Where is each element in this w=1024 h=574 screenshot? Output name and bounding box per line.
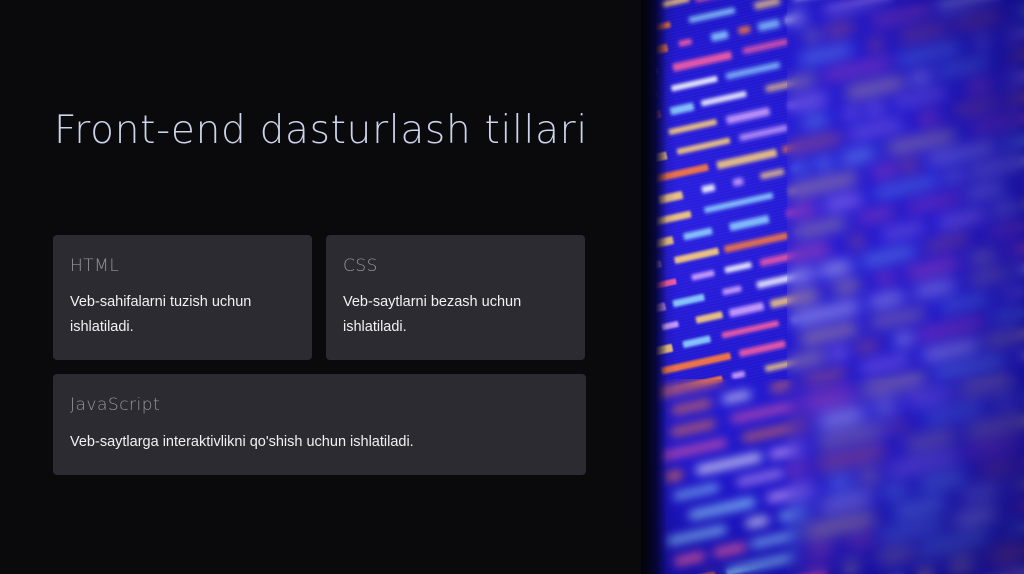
card-heading: JavaScript: [70, 395, 569, 415]
card-heading: HTML: [70, 256, 295, 276]
monitor-bezel-edge: [641, 0, 667, 574]
cards-container: HTML Veb-sahifalarni tuzish uchun ishlat…: [53, 235, 586, 475]
card-javascript[interactable]: JavaScript Veb-saytlarga interaktivlikni…: [53, 374, 586, 474]
card-css[interactable]: CSS Veb-saytlarni bezash uchun ishlatila…: [326, 235, 585, 360]
card-body: Veb-sahifalarni tuzish uchun ishlatiladi…: [70, 290, 295, 340]
code-text-lines: [641, 0, 1024, 574]
card-body: Veb-saytlarga interaktivlikni qo'shish u…: [70, 430, 569, 455]
page-title: Front-end dasturlash tillari: [54, 108, 588, 155]
monitor-screen: [641, 0, 1024, 574]
cards-top-row: HTML Veb-sahifalarni tuzish uchun ishlat…: [53, 235, 586, 360]
content-panel: Front-end dasturlash tillari HTML Veb-sa…: [0, 0, 641, 574]
code-on-monitor-photo: [641, 0, 1024, 574]
card-html[interactable]: HTML Veb-sahifalarni tuzish uchun ishlat…: [53, 235, 312, 360]
presentation-slide: Front-end dasturlash tillari HTML Veb-sa…: [0, 0, 1024, 574]
card-body: Veb-saytlarni bezash uchun ishlatiladi.: [343, 290, 568, 340]
card-heading: CSS: [343, 256, 568, 276]
